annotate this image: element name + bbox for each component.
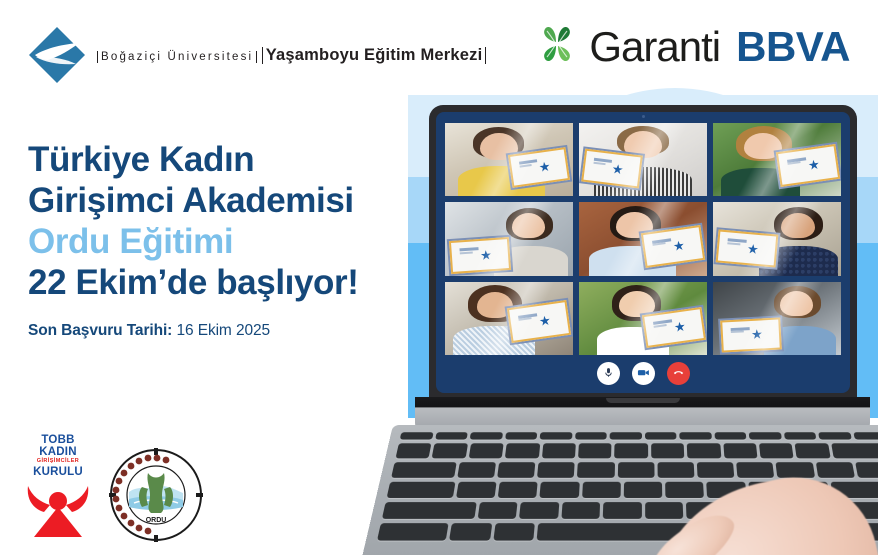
laptop-illustration: ★ ★ xyxy=(415,105,870,555)
diamond-fish-icon xyxy=(26,24,88,86)
deadline-label: Son Başvuru Tarihi: xyxy=(28,322,172,339)
headline-block: Türkiye Kadın Girişimci Akademisi Ordu E… xyxy=(28,140,448,340)
bbva-wordmark: BBVA xyxy=(736,26,850,68)
participant-tile[interactable]: ★ xyxy=(579,123,707,196)
ordu-seal-bottom-text: ORDU xyxy=(146,517,167,524)
bogazici-line2: Yaşamboyu Eğitim Merkezi xyxy=(262,47,487,64)
participant-grid: ★ ★ xyxy=(445,123,841,355)
tobb-figure-icon xyxy=(22,480,94,543)
microphone-button[interactable] xyxy=(597,362,620,385)
deadline-value: 16 Ekim 2025 xyxy=(176,322,270,339)
ordu-chamber-seal-icon: ORDU xyxy=(108,447,204,543)
bogazici-line1: Boğaziçi Üniversitesi xyxy=(97,51,257,63)
webcam-icon xyxy=(642,115,645,118)
laptop-notch xyxy=(606,398,680,403)
video-call-screen: ★ ★ xyxy=(436,112,850,393)
tobb-line1: TOBB xyxy=(22,434,94,446)
clover-icon xyxy=(535,22,579,71)
headline-line-4: 22 Ekim’de başlıyor! xyxy=(28,263,448,304)
participant-tile[interactable]: ★ xyxy=(445,202,573,275)
participant-tile[interactable]: ★ xyxy=(579,282,707,355)
microphone-icon xyxy=(603,365,614,383)
participant-tile[interactable]: ★ xyxy=(713,282,841,355)
keyboard-row-function xyxy=(390,432,878,439)
tobb-line3: GİRİŞİMCİLER xyxy=(22,458,94,466)
laptop-lid: ★ ★ xyxy=(429,105,857,400)
participant-tile[interactable]: ★ xyxy=(713,123,841,196)
tobb-line2: KADIN xyxy=(22,446,94,458)
keyboard-row-qwerty xyxy=(381,462,878,478)
headline-line-3: Ordu Eğitimi xyxy=(28,222,448,263)
headline-line-2: Girişimci Akademisi xyxy=(28,181,448,222)
promo-poster: Boğaziçi Üniversitesi Yaşamboyu Eğitim M… xyxy=(0,0,878,555)
headline-line-1: Türkiye Kadın xyxy=(28,140,448,181)
participant-tile[interactable]: ★ xyxy=(713,202,841,275)
end-call-button[interactable] xyxy=(667,362,690,385)
partner-logos: TOBB KADIN GİRİŞİMCİLER KURULU xyxy=(22,434,204,543)
garanti-bbva-logo: Garanti BBVA xyxy=(535,22,850,71)
participant-tile[interactable]: ★ xyxy=(445,282,573,355)
deadline-text: Son Başvuru Tarihi: 16 Ekim 2025 xyxy=(28,322,448,340)
bogazici-university-logo: Boğaziçi Üniversitesi Yaşamboyu Eğitim M… xyxy=(26,24,486,86)
camera-button[interactable] xyxy=(632,362,655,385)
tobb-kadin-girisimciler-kurulu-logo: TOBB KADIN GİRİŞİMCİLER KURULU xyxy=(22,434,94,543)
call-controls xyxy=(436,362,850,385)
garanti-wordmark: Garanti xyxy=(589,26,720,68)
participant-tile[interactable]: ★ xyxy=(579,202,707,275)
tobb-line4: KURULU xyxy=(22,466,94,478)
participant-tile[interactable]: ★ xyxy=(445,123,573,196)
video-camera-icon xyxy=(637,365,650,383)
keyboard-row-numbers xyxy=(385,443,878,458)
phone-hangup-icon xyxy=(672,365,685,383)
